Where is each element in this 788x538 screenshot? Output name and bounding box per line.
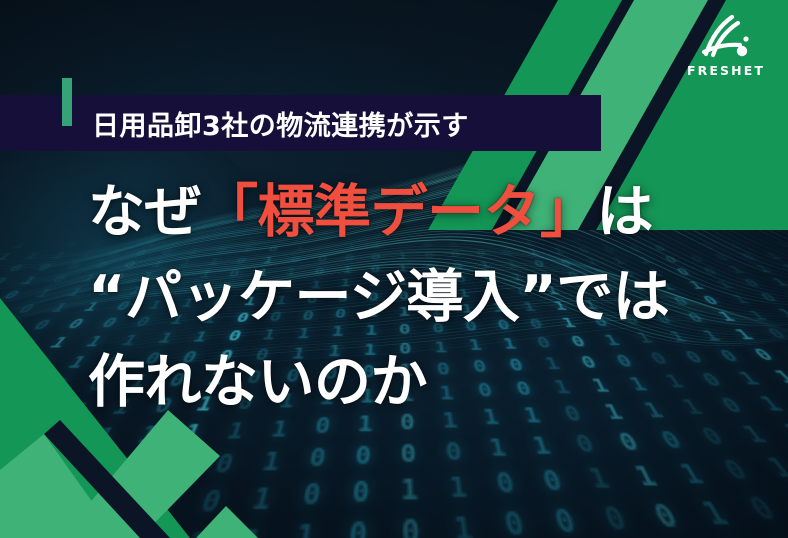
eyebrow-text: 日用品卸3社の物流連携が示す [92, 95, 469, 151]
logo-wordmark: FRESHET [680, 63, 772, 78]
freshet-wave-mark-icon [696, 14, 756, 62]
hero-banner: 1 0 0 1 0 1 1 0 1 0 0 0 1 1 0 1 0 1 1 0 … [0, 0, 788, 538]
headline-line-2: “パッケージ導入”では [88, 255, 778, 340]
headline-segment-1-3: は [597, 179, 654, 245]
logo[interactable]: FRESHET [680, 14, 772, 78]
eyebrow-accent-bar [62, 78, 72, 126]
headline-segment-1-2: 「標準データ」 [201, 179, 597, 245]
headline-line-1: なぜ「標準データ」は [88, 170, 778, 255]
headline-segment-1-1: なぜ [88, 179, 201, 245]
headline-segment-3-1: 作れないのか [88, 349, 427, 415]
headline-segment-2-1: “パッケージ導入”では [88, 264, 669, 330]
headline: なぜ「標準データ」は“パッケージ導入”では作れないのか [88, 170, 778, 425]
headline-line-3: 作れないのか [88, 340, 778, 425]
